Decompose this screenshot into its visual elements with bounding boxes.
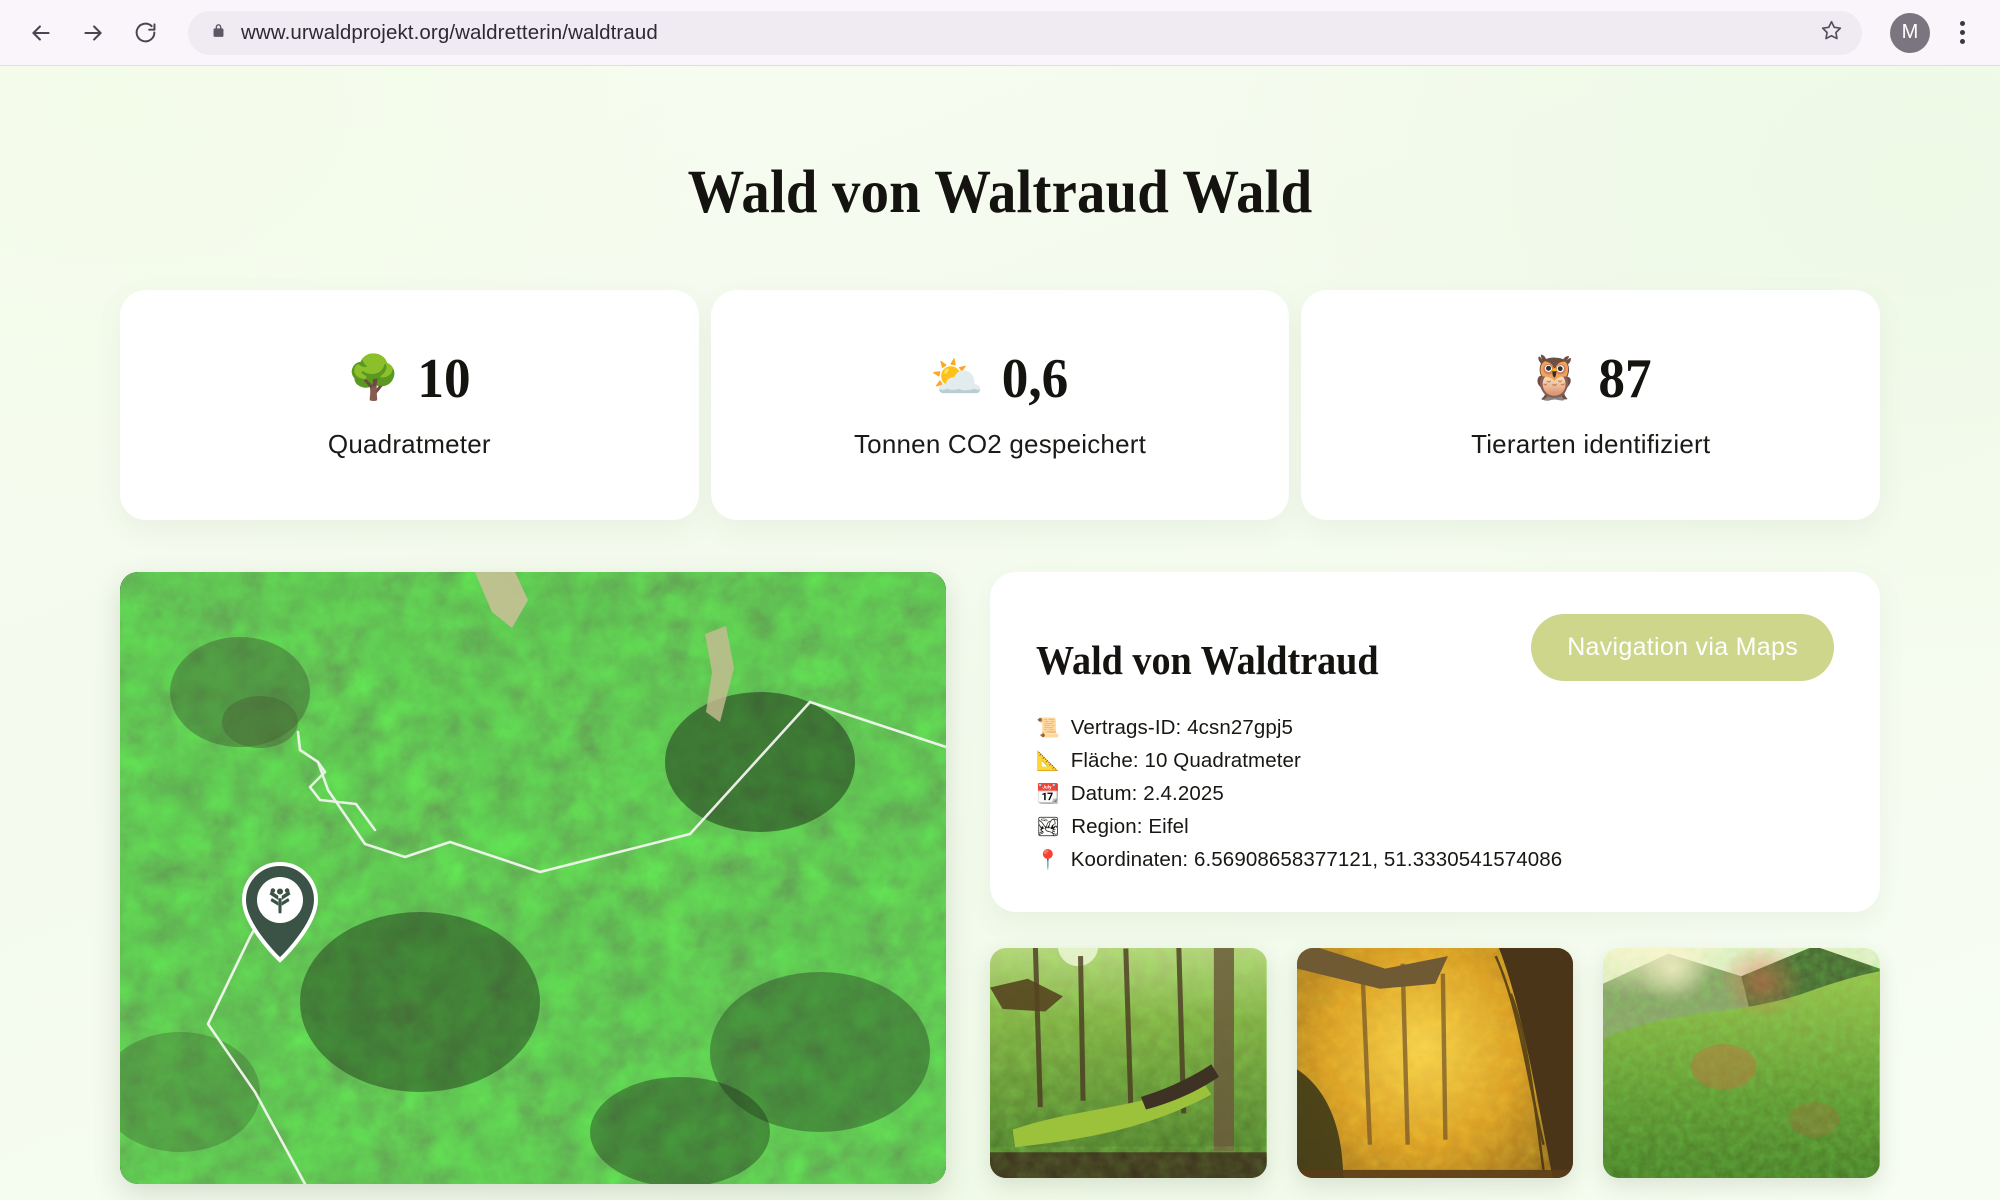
detail-item-text: Koordinaten: 6.56908658377121, 51.333054… [1071,848,1562,872]
calendar-emoji: 📆 [1036,785,1060,804]
stat-value: 10 [418,351,471,407]
detail-list: 📜 Vertrags-ID: 4csn27gpj5 📐 Fläche: 10 Q… [1036,716,1834,872]
photo-image [990,948,1267,1178]
page-body: Wald von Waltraud Wald 🌳 10 Quadratmeter… [0,66,2000,1200]
detail-item-text: Datum: 2.4.2025 [1071,782,1224,806]
detail-item-text: Fläche: 10 Quadratmeter [1071,749,1301,773]
owl-emoji: 🦉 [1528,357,1582,400]
detail-item-vertrags-id: 📜 Vertrags-ID: 4csn27gpj5 [1036,716,1834,740]
photo-image [1297,948,1574,1178]
stat-value: 87 [1599,351,1652,407]
stat-top: 🌳 10 [347,351,473,407]
photo-gallery [990,948,1880,1178]
landscape-emoji: 🏞 [1036,818,1060,837]
reload-button[interactable] [122,10,168,56]
photo-aerial-hills[interactable] [1603,948,1880,1178]
avatar[interactable]: M [1890,13,1930,53]
right-column: Wald von Waldtraud Navigation via Maps 📜… [990,572,1880,1178]
navigation-via-maps-button[interactable]: Navigation via Maps [1531,614,1834,681]
satellite-map[interactable] [120,572,946,1184]
forest-detail-card: Wald von Waldtraud Navigation via Maps 📜… [990,572,1880,912]
stat-card-quadratmeter: 🌳 10 Quadratmeter [120,290,699,520]
photo-autumn-forest[interactable] [1297,948,1574,1178]
page-title: Wald von Waltraud Wald [70,66,1930,228]
content-row: Wald von Waldtraud Navigation via Maps 📜… [120,572,1880,1184]
sun-behind-cloud-emoji: ⛅ [930,357,984,400]
back-arrow-icon [28,20,54,46]
lock-icon [210,22,227,44]
detail-item-text: Vertrags-ID: 4csn27gpj5 [1071,716,1293,740]
forward-button[interactable] [70,10,116,56]
kebab-menu-icon[interactable] [1942,10,1982,56]
detail-title: Wald von Waldtraud [1036,614,1379,684]
detail-item-flaeche: 📐 Fläche: 10 Quadratmeter [1036,749,1834,773]
browser-toolbar: www.urwaldprojekt.org/waldretterin/waldt… [0,0,2000,66]
bookmark-star-icon[interactable] [1819,18,1844,48]
address-bar[interactable]: www.urwaldprojekt.org/waldretterin/waldt… [188,11,1862,55]
tree-emoji: 🌳 [347,357,401,400]
stat-label: Quadratmeter [328,429,491,460]
detail-item-region: 🏞 Region: Eifel [1036,815,1834,839]
back-button[interactable] [18,10,64,56]
avatar-letter: M [1902,21,1919,44]
stat-top: 🦉 87 [1528,351,1654,407]
stat-label: Tonnen CO2 gespeichert [854,429,1146,460]
scroll-emoji: 📜 [1036,719,1060,738]
detail-item-text: Region: Eifel [1071,815,1189,839]
stat-top: ⛅ 0,6 [930,351,1070,407]
stats-row: 🌳 10 Quadratmeter ⛅ 0,6 Tonnen CO2 gespe… [120,290,1880,520]
stat-value: 0,6 [1002,351,1069,407]
detail-item-datum: 📆 Datum: 2.4.2025 [1036,782,1834,806]
detail-header: Wald von Waldtraud Navigation via Maps [1036,614,1834,684]
stat-card-co2: ⛅ 0,6 Tonnen CO2 gespeichert [711,290,1290,520]
map-pin-emoji: 📍 [1036,851,1060,870]
url-text: www.urwaldprojekt.org/waldretterin/waldt… [241,21,1805,45]
map-canvas [120,572,946,1184]
detail-item-koordinaten: 📍 Koordinaten: 6.56908658377121, 51.3330… [1036,848,1834,872]
photo-image [1603,948,1880,1178]
reload-icon [133,20,158,45]
stat-label: Tierarten identifiziert [1471,429,1710,460]
photo-summer-beech-forest[interactable] [990,948,1267,1178]
stat-card-tierarten: 🦉 87 Tierarten identifiziert [1301,290,1880,520]
triangle-ruler-emoji: 📐 [1036,752,1060,771]
forward-arrow-icon [80,20,106,46]
